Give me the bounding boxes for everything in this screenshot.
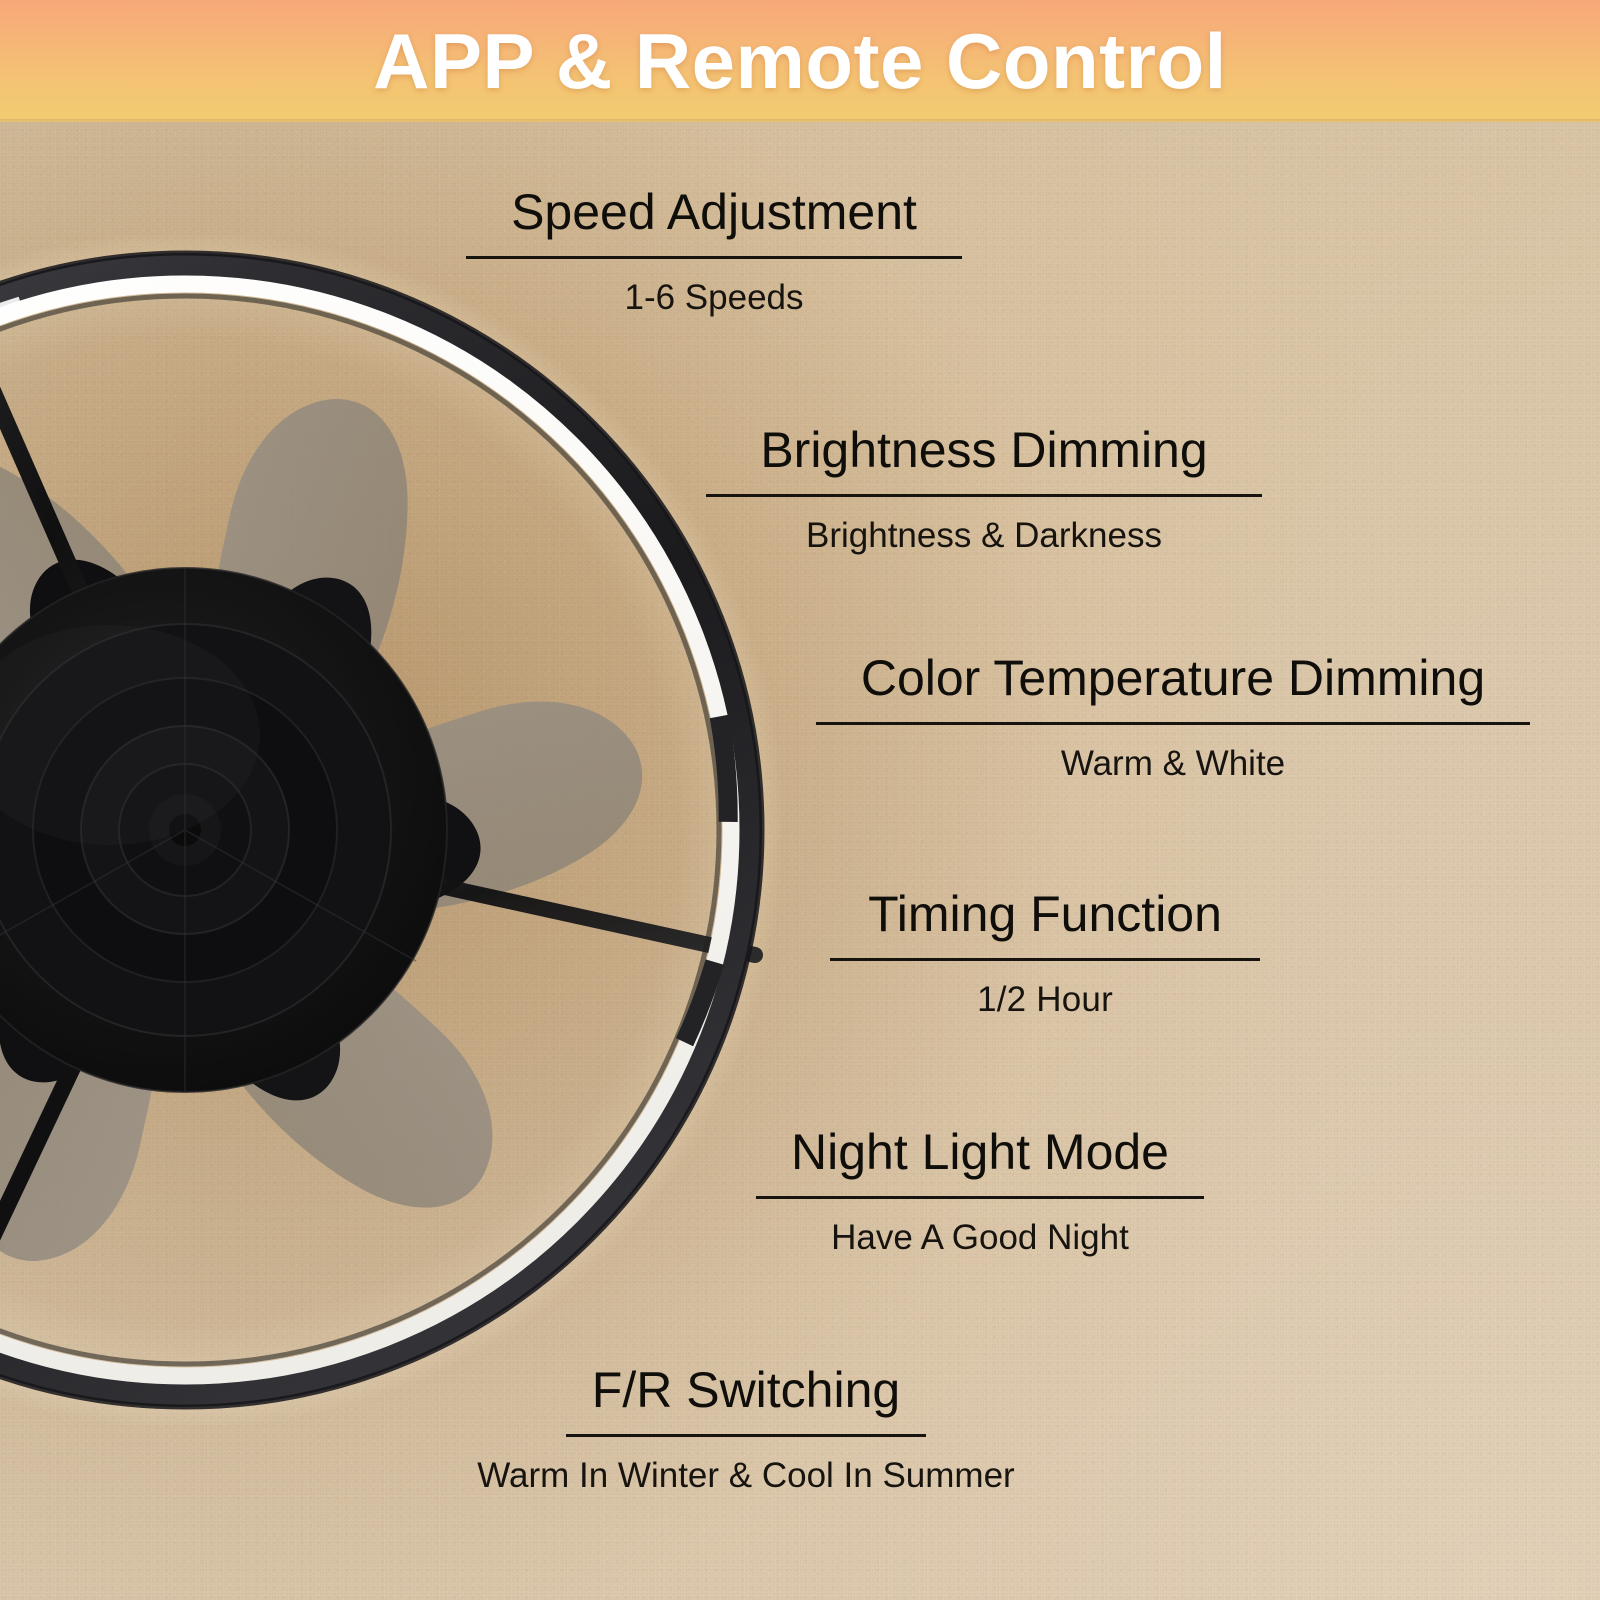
header-banner: APP & Remote Control <box>0 0 1600 122</box>
header-bottom-edge <box>0 119 1600 122</box>
feature-night-light-mode: Night Light Mode Have A Good Night <box>756 1126 1204 1257</box>
feature-subtitle: Warm & White <box>816 745 1530 784</box>
feature-divider <box>830 958 1260 961</box>
feature-title: Speed Adjustment <box>466 186 962 239</box>
feature-divider <box>706 494 1262 497</box>
feature-divider <box>816 722 1530 725</box>
infographic-canvas: Speed Adjustment 1-6 Speeds Brightness D… <box>0 0 1600 1600</box>
feature-subtitle: 1-6 Speeds <box>466 279 962 318</box>
feature-subtitle: Brightness & Darkness <box>706 517 1262 556</box>
page-title: APP & Remote Control <box>0 22 1600 100</box>
feature-divider <box>756 1196 1204 1199</box>
feature-title: Brightness Dimming <box>706 424 1262 477</box>
feature-divider <box>566 1434 926 1437</box>
feature-title: Night Light Mode <box>756 1126 1204 1179</box>
feature-timing-function: Timing Function 1/2 Hour <box>830 888 1260 1019</box>
feature-title: Timing Function <box>830 888 1260 941</box>
feature-subtitle: Have A Good Night <box>756 1219 1204 1258</box>
feature-brightness-dimming: Brightness Dimming Brightness & Darkness <box>706 424 1262 555</box>
feature-subtitle: Warm In Winter & Cool In Summer <box>441 1457 1051 1496</box>
feature-title: F/R Switching <box>566 1364 926 1417</box>
feature-divider <box>466 256 962 259</box>
feature-fr-switching: F/R Switching Warm In Winter & Cool In S… <box>566 1364 926 1495</box>
feature-color-temperature-dimming: Color Temperature Dimming Warm & White <box>816 652 1530 783</box>
feature-title: Color Temperature Dimming <box>816 652 1530 705</box>
feature-speed-adjustment: Speed Adjustment 1-6 Speeds <box>466 186 962 317</box>
ceiling-fan-image <box>0 235 780 1425</box>
feature-subtitle: 1/2 Hour <box>830 981 1260 1020</box>
